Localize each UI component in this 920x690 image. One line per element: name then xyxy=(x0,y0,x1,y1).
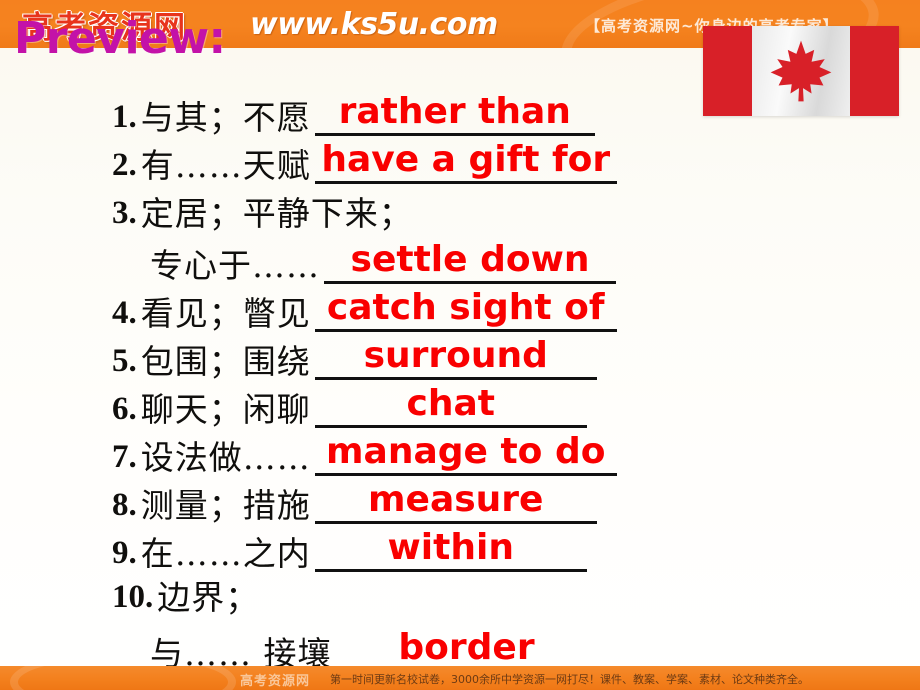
answer-blank[interactable]: have a gift for xyxy=(315,142,617,184)
item-number: 7. xyxy=(112,441,137,474)
item-number: 3. xyxy=(112,197,137,230)
answer-blank[interactable]: surround xyxy=(315,338,597,380)
answer-blank[interactable]: rather than xyxy=(315,94,595,136)
list-item: 7. 设法做…… manage to do xyxy=(0,426,920,474)
item-answer: chat xyxy=(407,386,495,422)
item-answer: settle down xyxy=(351,242,590,278)
item-answer: have a gift for xyxy=(321,142,610,178)
list-item: 6. 聊天；闲聊 chat xyxy=(0,378,920,426)
item-number: 6. xyxy=(112,393,137,426)
item-chinese: 定居；平静下来； xyxy=(141,197,413,230)
item-number: 10. xyxy=(112,581,153,614)
item-number: 2. xyxy=(112,149,137,182)
footer-band: 高考资源网 第一时间更新名校试卷，3000余所中学资源一网打尽！课件、教案、学案… xyxy=(0,666,920,690)
page-title: Preview: xyxy=(14,17,226,61)
item-chinese: 测量；措施 xyxy=(141,489,311,522)
item-number: 5. xyxy=(112,345,137,378)
answer-blank[interactable]: chat xyxy=(315,386,587,428)
item-answer: within xyxy=(388,530,514,566)
list-item: 8. 测量；措施 measure xyxy=(0,474,920,522)
list-item-continuation: 与…… 接壤 border xyxy=(0,614,920,670)
answer-blank[interactable]: within xyxy=(315,530,587,572)
site-url-text: www.ks5u.com xyxy=(250,7,498,42)
answer-blank[interactable]: settle down xyxy=(324,242,616,284)
item-chinese: 聊天；闲聊 xyxy=(141,393,311,426)
list-item-continuation: 专心于…… settle down xyxy=(0,230,920,282)
item-number: 8. xyxy=(112,489,137,522)
item-answer: rather than xyxy=(339,94,571,130)
footer-logo-text: 高考资源网 xyxy=(240,670,310,689)
list-item: 5. 包围；围绕 surround xyxy=(0,330,920,378)
list-item: 4. 看见；瞥见 catch sight of xyxy=(0,282,920,330)
item-chinese: 看见；瞥见 xyxy=(141,297,311,330)
footer-tagline-text: 第一时间更新名校试卷，3000余所中学资源一网打尽！课件、教案、学案、素材、论文… xyxy=(330,671,809,687)
list-item: 3. 定居；平静下来； xyxy=(0,182,920,230)
item-chinese-second-line: 专心于…… xyxy=(150,249,320,282)
slide-canvas: 高考资源网 www.ks5u.com 【高考资源网~你身边的高考专家】 Prev… xyxy=(0,0,920,690)
item-chinese: 与其；不愿 xyxy=(141,101,311,134)
item-chinese: 包围；围绕 xyxy=(141,345,311,378)
item-chinese: 边界； xyxy=(157,581,259,614)
item-number: 4. xyxy=(112,297,137,330)
list-item: 1. 与其；不愿 rather than xyxy=(0,86,920,134)
item-chinese: 有……天赋 xyxy=(141,149,311,182)
item-chinese: 在……之内 xyxy=(141,537,311,570)
list-item: 10. 边界； xyxy=(0,570,920,614)
item-chinese: 设法做…… xyxy=(141,441,311,474)
item-answer: surround xyxy=(364,338,548,374)
item-answer: measure xyxy=(368,482,543,518)
item-answer: manage to do xyxy=(326,434,605,470)
answer-blank[interactable]: manage to do xyxy=(315,434,617,476)
item-answer: border xyxy=(398,630,534,666)
vocabulary-list: 1. 与其；不愿 rather than 2. 有……天赋 have a gif… xyxy=(0,86,920,670)
item-answer: catch sight of xyxy=(327,290,605,326)
answer-blank[interactable]: measure xyxy=(315,482,597,524)
item-number: 1. xyxy=(112,101,137,134)
answer-blank[interactable]: catch sight of xyxy=(315,290,617,332)
list-item: 9. 在……之内 within xyxy=(0,522,920,570)
item-number: 9. xyxy=(112,537,137,570)
list-item: 2. 有……天赋 have a gift for xyxy=(0,134,920,182)
